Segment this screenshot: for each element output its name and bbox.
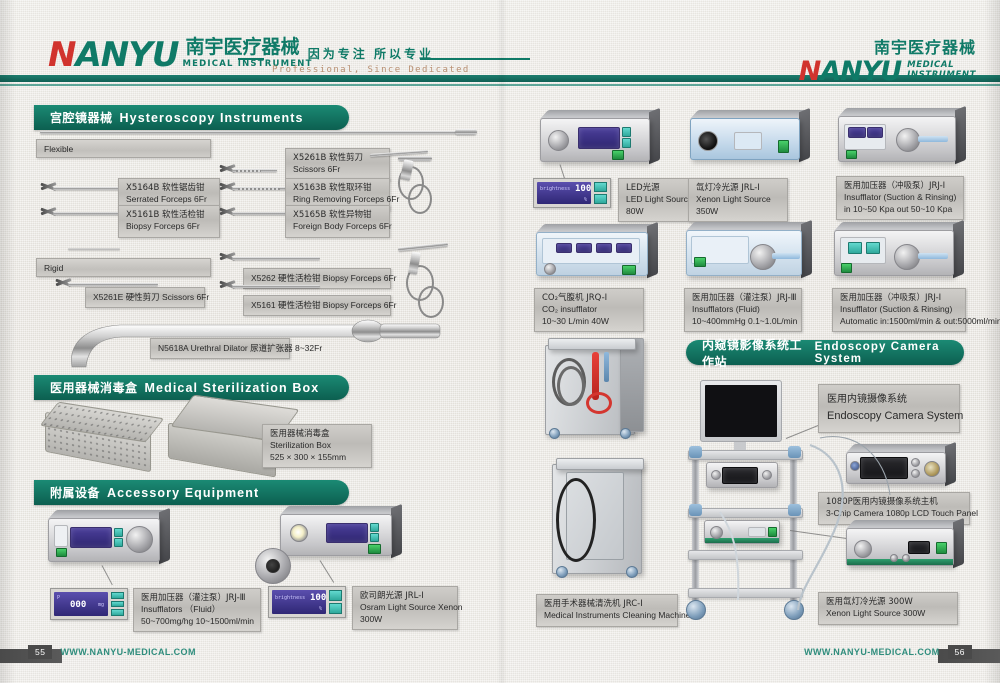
trolley-caster-right [784, 600, 804, 620]
endoscopy-monitor-screen [705, 385, 777, 437]
device-xenon-port [698, 131, 718, 151]
device-osram-lcd [326, 523, 368, 543]
section-banner-hysteroscopy-cn: 宫腔镜器械 [50, 109, 113, 126]
caption-suction2-spec: Automatic in:1500ml/min & out:5000ml/min [840, 316, 958, 327]
device-led-lcd [578, 127, 620, 149]
caption-suction1-spec: in 10~50 Kpa out 50~10 Kpa [844, 204, 956, 215]
flexible-scope-shaft [40, 131, 460, 134]
caption-foreign-body-forceps: X5165B 软性异物钳 Foreign Body Forceps 6Fr [285, 205, 390, 238]
device-suction2-pump [894, 244, 920, 270]
inset-insufflator-fluid: P 000 mg [50, 588, 128, 620]
caption-xenon-300w: 医用氙灯冷光源 300W Xenon Light Source 300W [818, 592, 958, 625]
device-xenon-300w-stripe [847, 559, 953, 565]
caption-foreign-en: Foreign Body Forceps 6Fr [293, 221, 382, 232]
caption-co2-cn: CO₂气腹机 JRQ-Ⅰ [542, 293, 636, 304]
device-insufflator-fluid-right [686, 230, 802, 276]
rigid-scope-shaft [68, 248, 120, 250]
caption-insufflator-fluid-spec: 50~700mg/hg 10~1500ml/min [141, 616, 253, 627]
device-co2-insufflator [536, 232, 648, 276]
caption-serrated-cn: X5164B 软性锯齿钳 [126, 183, 212, 194]
group-tag-rigid: Rigid [36, 258, 211, 277]
caption-camera-system-cn: 医用内镜摄像系统 [827, 393, 951, 406]
cleaning-machine-lower-top [556, 458, 644, 470]
trolley-shelf-2 [688, 508, 803, 518]
inset-led-unit: % [584, 197, 587, 203]
inset-led-value: 100 [575, 184, 591, 194]
inset-osram-keys[interactable] [329, 590, 342, 614]
caption-fluid-right-cn: 医用加压器（灌注泵）JRJ-Ⅲ [692, 293, 794, 304]
device-osram-lamp-port [290, 524, 308, 542]
slogan-english: Professional, Since Dedicated [272, 65, 470, 75]
inset-fluid-keys[interactable] [111, 592, 124, 616]
caption-xenon-300w-en: Xenon Light Source 300W [826, 608, 950, 619]
inset-led-label: brightness [540, 186, 570, 192]
caption-sterilization-cn: 医用器械消毒盒 [270, 429, 364, 440]
caption-dilator-text: N5618A Urethral Dilator 尿道扩张器 8~32Fr [158, 343, 282, 354]
caption-fluid-right-en: Insufflators (Fluid) [692, 304, 794, 315]
inset-fluid-label: P [57, 595, 60, 601]
caption-suction1-cn: 医用加压器（冲吸泵）JRJ-Ⅰ [844, 181, 956, 192]
caption-cleaning-machine: 医用手术器械清洗机 JRC-Ⅰ Medical Instruments Clea… [536, 594, 678, 627]
inset-fluid-value: 000 [70, 600, 86, 610]
section-banner-accessory-en: Accessory Equipment [107, 486, 259, 500]
device-xenon-300w-port [854, 540, 872, 558]
caption-endoscopy-camera-system: 医用内镜摄像系统 Endoscopy Camera System [818, 384, 960, 433]
footer-left: 55 WWW.NANYU-MEDICAL.COM [28, 645, 196, 659]
trolley-post-right [790, 450, 797, 605]
caption-scissors-en: Scissors 6Fr [293, 164, 382, 175]
caption-biopsy-flexible: X5161B 软性活检钳 Biopsy Forceps 6Fr [118, 205, 220, 238]
inset-osram: brightness 100 % [268, 586, 346, 618]
slogan-rule-left [238, 58, 264, 60]
section-banner-camera-system: 内窥镜影像系统工作站 Endoscopy Camera System [686, 340, 964, 365]
brand-logo-right: 南宇医疗器械 NANYU MEDICAL INSTRUMENT [799, 34, 976, 85]
slogan-rule-right [420, 58, 530, 60]
caption-xenon-spec: 350W [696, 206, 780, 217]
logo-right-letter-n: N [799, 56, 821, 87]
caption-1080p-en: 3-Chip Camera 1080p LCD Touch Panel [826, 508, 962, 519]
caption-sterilization-box: 医用器械消毒盒 Sterilization Box 525 × 300 × 15… [262, 424, 372, 468]
caption-osram-spec: 300W [360, 614, 450, 625]
inset-osram-unit: % [319, 606, 322, 612]
logo-letters-anyu: ANYU [75, 35, 178, 75]
scissors-ring-lower [408, 184, 432, 214]
caption-insufflator-fluid-en: Insufflators （Fluid） [141, 604, 253, 615]
device-xenon-light-source [690, 118, 800, 160]
section-banner-accessory: 附属设备 Accessory Equipment [34, 480, 349, 505]
leader-insufflator-fluid [102, 565, 113, 585]
instrument-shaft-rigid-biopsy-a [232, 257, 320, 260]
device-insufflator-suction-2 [834, 230, 954, 276]
inset-led-screen: brightness 100 % [537, 182, 591, 204]
device-insufflator-fluid-lcd [70, 527, 112, 548]
device-insufflator-fluid-knob [126, 526, 153, 553]
inset-led-keys[interactable] [594, 182, 607, 204]
trolley-camera-unit [706, 462, 778, 488]
caption-osram-en: Osram Light Source Xenon [360, 602, 450, 613]
cleaning-hose-black [556, 478, 596, 562]
page-gutter [497, 0, 507, 683]
endoscopy-monitor [700, 380, 782, 442]
inset-osram-screen: brightness 100 % [272, 590, 326, 614]
inset-fluid-unit: mg [98, 602, 104, 608]
page-edge-right [984, 0, 1000, 683]
caption-osram-cn: 欧司朗光源 JRL-Ⅰ [360, 591, 450, 602]
section-banner-hysteroscopy: 宫腔镜器械 Hysteroscopy Instruments [34, 105, 349, 130]
caption-cleaning-cn: 医用手术器械清洗机 JRC-Ⅰ [544, 599, 670, 610]
caption-serrated-en: Serrated Forceps 6Fr [126, 194, 212, 205]
device-insufflator-fluid [48, 518, 160, 562]
caption-fluid-right-spec: 10~400mmHg 0.1~1.0L/min [692, 316, 794, 327]
caption-sterilization-en: Sterilization Box [270, 440, 364, 451]
caption-rigid-biopsy-a-text: X5262 硬性活检钳 Biopsy Forceps 6Fr [251, 273, 383, 284]
page-edge-left [0, 0, 16, 683]
light-guide-connector-core [266, 559, 280, 573]
trolley-camera-unit-screen [722, 467, 758, 484]
caption-ring-cn: X5163B 软性取环钳 [293, 183, 382, 194]
slogan: 因为专注 所以专业 Professional, Since Dedicated [272, 45, 470, 75]
caption-biopsy-flex-en: Biopsy Forceps 6Fr [126, 221, 212, 232]
device-xenon-300w [846, 528, 954, 566]
device-insufflator-suction-1 [838, 116, 956, 162]
caption-xenon-300w-cn: 医用氙灯冷光源 300W [826, 597, 950, 608]
caption-xenon-light-source: 氙灯冷光源 JRL-Ⅰ Xenon Light Source 350W [688, 178, 788, 222]
instrument-coil-scissors [236, 170, 261, 172]
caption-camera-system-en: Endoscopy Camera System [827, 409, 951, 424]
leader-xenon-300w [790, 530, 848, 539]
section-banner-accessory-cn: 附属设备 [50, 484, 100, 501]
trolley-light-source-unit [704, 520, 780, 544]
caption-ring-en: Ring Removing Forceps 6Fr [293, 194, 382, 205]
footer-url-right[interactable]: WWW.NANYU-MEDICAL.COM [804, 647, 939, 657]
footer-url-left[interactable]: WWW.NANYU-MEDICAL.COM [60, 647, 195, 657]
logo-right-chinese: 南宇医疗器械 [799, 34, 976, 58]
section-banner-camera-en: Endoscopy Camera System [815, 341, 964, 365]
footer-right: WWW.NANYU-MEDICAL.COM 56 [804, 645, 972, 659]
group-tag-flexible: Flexible [36, 139, 211, 158]
page-number-left: 55 [28, 645, 52, 659]
caption-co2-insufflator: CO₂气腹机 JRQ-Ⅰ CO₂ insufflator 10~30 L/min… [534, 288, 644, 332]
caption-insufflator-fluid-right: 医用加压器（灌注泵）JRJ-Ⅲ Insufflators (Fluid) 10~… [684, 288, 802, 332]
section-banner-hysteroscopy-en: Hysteroscopy Instruments [120, 111, 304, 125]
trolley-shelf-3 [688, 550, 803, 560]
caption-biopsy-flex-cn: X5161B 软性活检钳 [126, 210, 212, 221]
caption-insufflator-suction-2: 医用加压器（冲吸泵）JRJ-Ⅰ Insufflator (Suction & R… [832, 288, 966, 332]
inset-led: brightness 100 % [533, 178, 611, 208]
caption-cleaning-en: Medical Instruments Cleaning Machine [544, 610, 670, 621]
section-banner-camera-cn: 内窥镜影像系统工作站 [702, 336, 808, 370]
caption-co2-en: CO₂ insufflator [542, 304, 636, 315]
device-1080p-camera-port [924, 461, 940, 477]
logo-right-letters: ANYU [820, 56, 901, 87]
device-suction1-pump [896, 128, 920, 152]
caption-scissors-cn: X5261B 软性剪刀 [293, 153, 382, 164]
logo-letter-n: N [48, 35, 75, 75]
device-1080p-camera-unit [846, 452, 946, 484]
leader-osram [320, 560, 335, 583]
caption-xenon-cn: 氙灯冷光源 JRL-Ⅰ [696, 183, 780, 194]
trolley-caster-left [686, 600, 706, 620]
monitor-neck [734, 442, 746, 450]
group-tag-flexible-label: Flexible [44, 144, 203, 155]
section-banner-sterilization-en: Medical Sterilization Box [145, 381, 320, 395]
caption-urethral-dilator: N5618A Urethral Dilator 尿道扩张器 8~32Fr [150, 338, 290, 359]
caption-1080p-cn: 1080P医用内镜摄像系统主机 [826, 497, 962, 508]
caption-insufflator-fluid: 医用加压器（灌注泵）JRJ-Ⅲ Insufflators （Fluid） 50~… [133, 588, 261, 632]
instrument-shaft-rigid-biopsy-b [232, 285, 320, 288]
caption-co2-spec: 10~30 L/min 40W [542, 316, 636, 327]
instrument-coil-ring [238, 188, 280, 190]
device-osram-light-source [280, 514, 392, 556]
flexible-scope-handle [455, 129, 477, 135]
cleaning-machine-upper-top [548, 338, 636, 350]
trolley-post-left [692, 450, 699, 605]
cleaning-spray-nozzle [604, 352, 609, 382]
device-1080p-touch-panel [860, 457, 908, 479]
caption-suction1-en: Insufflator (Suction & Rinsing) [844, 192, 956, 203]
caption-suction2-cn: 医用加压器（冲吸泵）JRJ-Ⅰ [840, 293, 958, 304]
caption-insufflator-fluid-cn: 医用加压器（灌注泵）JRJ-Ⅲ [141, 593, 253, 604]
device-led-port [548, 130, 569, 151]
caption-xenon-en: Xenon Light Source [696, 194, 780, 205]
inset-osram-value: 100 [310, 593, 326, 603]
trolley-shelf-4 [688, 588, 803, 598]
page-number-right: 56 [948, 645, 972, 659]
caption-suction2-en: Insufflator (Suction & Rinsing) [840, 304, 958, 315]
catalog-spread: NANYU 南宇医疗器械 MEDICAL INSTRUMENT 因为专注 所以专… [0, 0, 1000, 683]
caption-insufflator-suction-1: 医用加压器（冲吸泵）JRJ-Ⅰ Insufflator (Suction & R… [836, 176, 964, 220]
device-led-light-source [540, 118, 650, 162]
caption-foreign-cn: X5165B 软性异物钳 [293, 210, 382, 221]
logo-right-sub-2: INSTRUMENT [907, 71, 976, 81]
inset-insufflator-fluid-screen: P 000 mg [54, 592, 108, 616]
inset-osram-label: brightness [275, 595, 305, 601]
group-tag-rigid-label: Rigid [44, 263, 203, 274]
trolley-shelf-1 [688, 450, 803, 460]
instrument-shaft-rigid-scissors [68, 283, 158, 286]
caption-osram-light-source: 欧司朗光源 JRL-Ⅰ Osram Light Source Xenon 300… [352, 586, 458, 630]
caption-sterilization-spec: 525 × 300 × 155mm [270, 452, 364, 463]
section-banner-sterilization-cn: 医用器械消毒盒 [50, 379, 138, 396]
caption-rigid-scissors-text: X5261E 硬性剪刀 Scissors 6Fr [93, 292, 197, 303]
